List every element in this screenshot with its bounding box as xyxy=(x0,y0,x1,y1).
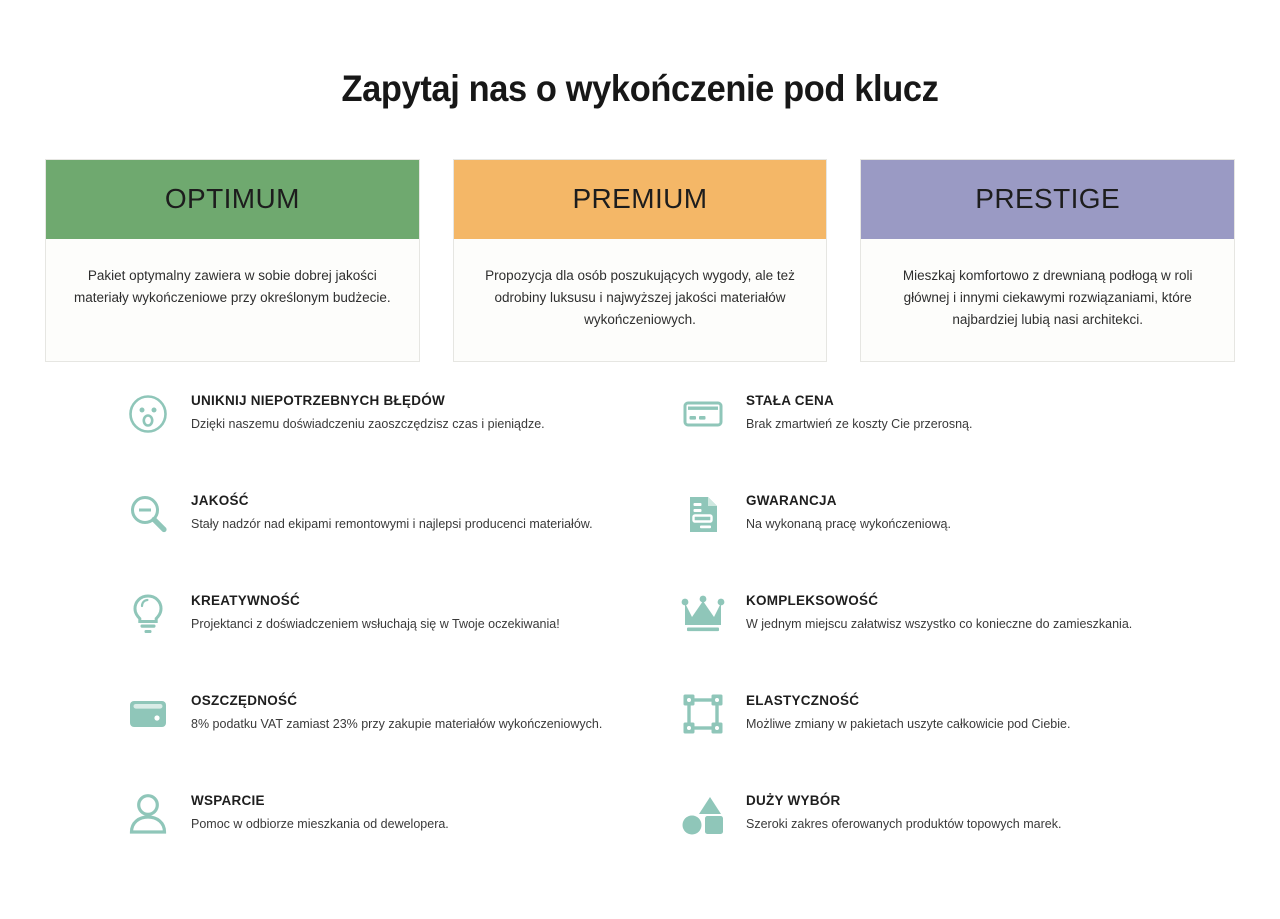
package-description: Propozycja dla osób poszukujących wygody… xyxy=(454,239,827,362)
lightbulb-icon xyxy=(125,591,171,637)
feature-title: DUŻY WYBÓR xyxy=(746,793,1061,808)
package-name: PRESTIGE xyxy=(975,183,1120,215)
document-icon xyxy=(680,491,726,537)
feature-text: WSPARCIE Pomoc w odbiorze mieszkania od … xyxy=(191,791,449,834)
surprised-face-icon xyxy=(125,391,171,437)
landing-page: Zapytaj nas o wykończenie pod klucz OPTI… xyxy=(0,0,1280,919)
feature-title: WSPARCIE xyxy=(191,793,449,808)
package-card-optimum[interactable]: OPTIMUM Pakiet optymalny zawiera w sobie… xyxy=(45,159,420,363)
feature-item: KREATYWNOŚĆ Projektanci z doświadczeniem… xyxy=(125,579,680,679)
feature-text: ELASTYCZNOŚĆ Możliwe zmiany w pakietach … xyxy=(746,691,1070,734)
crown-icon xyxy=(680,591,726,637)
feature-text: JAKOŚĆ Stały nadzór nad ekipami remontow… xyxy=(191,491,593,534)
feature-item: UNIKNIJ NIEPOTRZEBNYCH BŁĘDÓW Dzięki nas… xyxy=(125,379,680,479)
feature-item: JAKOŚĆ Stały nadzór nad ekipami remontow… xyxy=(125,479,680,579)
package-description: Pakiet optymalny zawiera w sobie dobrej … xyxy=(46,239,419,362)
credit-card-icon xyxy=(680,391,726,437)
feature-text: KOMPLEKSOWOŚĆ W jednym miejscu załatwisz… xyxy=(746,591,1132,634)
feature-item: OSZCZĘDNOŚĆ 8% podatku VAT zamiast 23% p… xyxy=(125,679,680,779)
shapes-icon xyxy=(680,791,726,837)
transform-frame-icon xyxy=(680,691,726,737)
package-card-header: OPTIMUM xyxy=(46,160,419,239)
feature-text: GWARANCJA Na wykonaną pracę wykończeniow… xyxy=(746,491,951,534)
package-card-header: PREMIUM xyxy=(454,160,827,239)
feature-description: Dzięki naszemu doświadczeniu zaoszczędzi… xyxy=(191,416,545,434)
feature-description: W jednym miejscu załatwisz wszystko co k… xyxy=(746,616,1132,634)
feature-title: UNIKNIJ NIEPOTRZEBNYCH BŁĘDÓW xyxy=(191,393,545,408)
person-icon xyxy=(125,791,171,837)
package-card-prestige[interactable]: PRESTIGE Mieszkaj komfortowo z drewnianą… xyxy=(860,159,1235,363)
feature-description: Stały nadzór nad ekipami remontowymi i n… xyxy=(191,516,593,534)
feature-item: DUŻY WYBÓR Szeroki zakres oferowanych pr… xyxy=(680,779,1235,879)
package-description: Mieszkaj komfortowo z drewnianą podłogą … xyxy=(861,239,1234,362)
feature-description: 8% podatku VAT zamiast 23% przy zakupie … xyxy=(191,716,602,734)
feature-item: STAŁA CENA Brak zmartwień ze koszty Cie … xyxy=(680,379,1235,479)
feature-title: ELASTYCZNOŚĆ xyxy=(746,693,1070,708)
feature-title: JAKOŚĆ xyxy=(191,493,593,508)
feature-item: WSPARCIE Pomoc w odbiorze mieszkania od … xyxy=(125,779,680,879)
package-card-premium[interactable]: PREMIUM Propozycja dla osób poszukującyc… xyxy=(453,159,828,363)
feature-title: STAŁA CENA xyxy=(746,393,972,408)
feature-title: OSZCZĘDNOŚĆ xyxy=(191,693,602,708)
feature-text: STAŁA CENA Brak zmartwień ze koszty Cie … xyxy=(746,391,972,434)
feature-description: Na wykonaną pracę wykończeniową. xyxy=(746,516,951,534)
feature-description: Pomoc w odbiorze mieszkania od deweloper… xyxy=(191,816,449,834)
page-title: Zapytaj nas o wykończenie pod klucz xyxy=(45,0,1235,111)
feature-description: Możliwe zmiany w pakietach uszyte całkow… xyxy=(746,716,1070,734)
package-card-header: PRESTIGE xyxy=(861,160,1234,239)
feature-description: Projektanci z doświadczeniem wsłuchają s… xyxy=(191,616,560,634)
feature-description: Brak zmartwień ze koszty Cie przerosną. xyxy=(746,416,972,434)
feature-description: Szeroki zakres oferowanych produktów top… xyxy=(746,816,1061,834)
feature-title: KOMPLEKSOWOŚĆ xyxy=(746,593,1132,608)
package-cards: OPTIMUM Pakiet optymalny zawiera w sobie… xyxy=(0,159,1280,363)
feature-text: DUŻY WYBÓR Szeroki zakres oferowanych pr… xyxy=(746,791,1061,834)
magnifier-minus-icon xyxy=(125,491,171,537)
feature-item: GWARANCJA Na wykonaną pracę wykończeniow… xyxy=(680,479,1235,579)
package-name: OPTIMUM xyxy=(165,183,300,215)
feature-text: OSZCZĘDNOŚĆ 8% podatku VAT zamiast 23% p… xyxy=(191,691,602,734)
feature-text: UNIKNIJ NIEPOTRZEBNYCH BŁĘDÓW Dzięki nas… xyxy=(191,391,545,434)
wallet-icon xyxy=(125,691,171,737)
feature-text: KREATYWNOŚĆ Projektanci z doświadczeniem… xyxy=(191,591,560,634)
feature-grid: UNIKNIJ NIEPOTRZEBNYCH BŁĘDÓW Dzięki nas… xyxy=(0,362,1280,879)
feature-item: ELASTYCZNOŚĆ Możliwe zmiany w pakietach … xyxy=(680,679,1235,779)
package-name: PREMIUM xyxy=(572,183,707,215)
feature-title: GWARANCJA xyxy=(746,493,951,508)
feature-title: KREATYWNOŚĆ xyxy=(191,593,560,608)
feature-item: KOMPLEKSOWOŚĆ W jednym miejscu załatwisz… xyxy=(680,579,1235,679)
